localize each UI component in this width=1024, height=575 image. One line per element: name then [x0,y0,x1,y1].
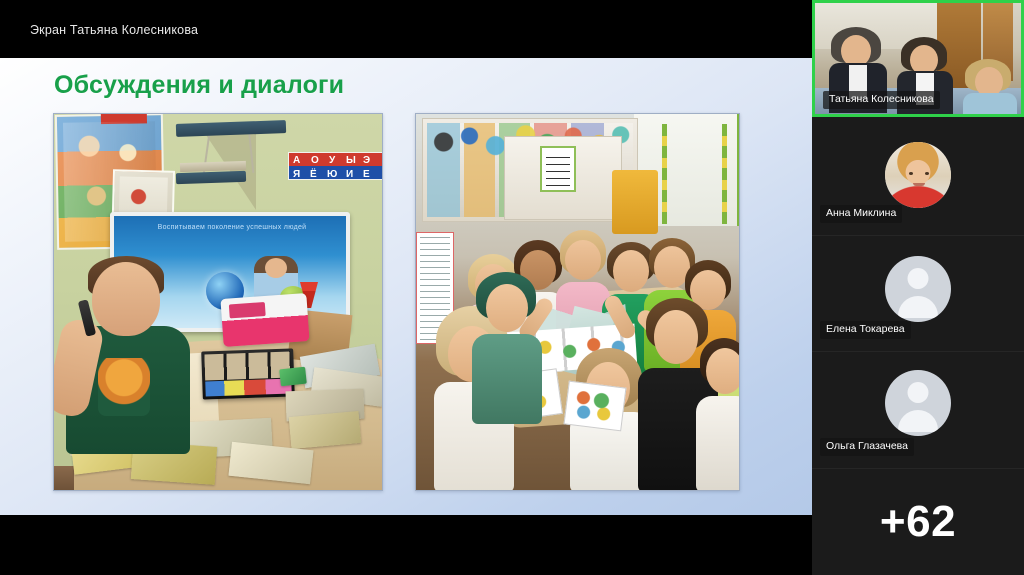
video-conference-window: Экран Татьяна Колесникова Обсуждения и д… [0,0,1024,575]
screen-share-topbar: Экран Татьяна Колесникова [0,0,812,58]
participant-tile-olga[interactable]: Ольга Глазачева [812,352,1024,468]
participant-tile-anna[interactable]: Анна Миклина [812,117,1024,235]
slide-title: Обсуждения и диалоги [54,71,344,100]
participants-overflow-count: +62 [812,497,1024,547]
slide-photo-left: АО УЫ Э ЯЁ ЮИ Е Воспитываем поколение ус… [53,113,383,491]
participant-name-label: Елена Токарева [820,321,911,339]
participants-rail[interactable]: Татьяна Колесникова Анна Миклина Елена Т… [812,0,1024,575]
slide-photo-right [415,113,740,491]
participants-overflow-tile[interactable]: +62 [812,469,1024,575]
screen-share-label: Экран Татьяна Колесникова [30,23,198,37]
avatar-placeholder-icon [885,370,951,436]
participant-tile-video[interactable]: Татьяна Колесникова [812,0,1024,117]
participant-tile-elena[interactable]: Елена Токарева [812,236,1024,351]
participant-name-label: Татьяна Колесникова [823,91,940,109]
avatar-placeholder-icon [885,256,951,322]
participant-name-label: Ольга Глазачева [820,438,914,456]
participant-name-label: Анна Миклина [820,205,902,223]
shared-screen-slide[interactable]: Обсуждения и диалоги АО УЫ Э ЯЁ ЮИ [0,58,812,515]
tv-caption-text: Воспитываем поколение успешных людей [128,224,336,234]
avatar [885,142,951,208]
